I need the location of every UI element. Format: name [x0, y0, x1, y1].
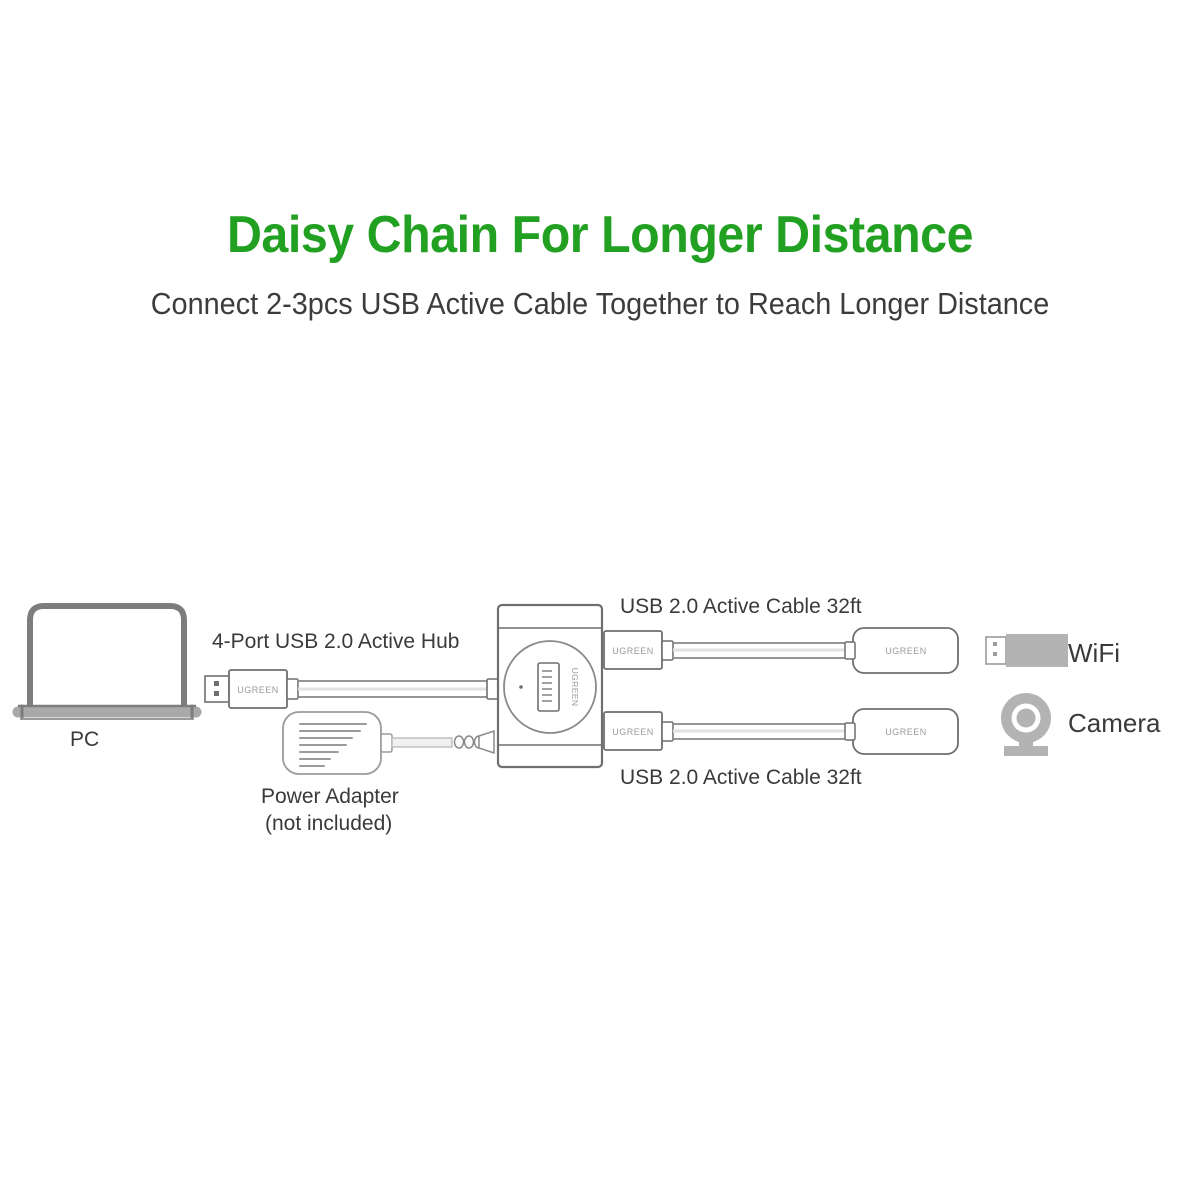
pc-laptop [18, 606, 196, 719]
power-adapter [283, 712, 494, 774]
brand-text: UGREEN [237, 685, 279, 695]
cable-pc-to-hub [298, 679, 500, 699]
label-camera: Camera [1068, 708, 1160, 739]
brand-text: UGREEN [885, 646, 927, 656]
active-cable-top: UGREEN UGREEN [604, 628, 958, 673]
label-pc: PC [70, 728, 99, 752]
brand-text: UGREEN [612, 646, 654, 656]
brand-text: UGREEN [612, 727, 654, 737]
label-power-adapter-note: (not included) [265, 812, 392, 836]
page-root: Daisy Chain For Longer Distance Connect … [0, 0, 1200, 1200]
label-power-adapter: Power Adapter [261, 785, 399, 809]
label-usb-hub: 4-Port USB 2.0 Active Hub [212, 630, 459, 654]
label-wifi: WiFi [1068, 638, 1120, 669]
usb-hub: UGREEN [498, 605, 602, 767]
wifi-dongle-icon [986, 634, 1068, 667]
label-active-cable-top: USB 2.0 Active Cable 32ft [620, 595, 862, 619]
active-cable-bottom: UGREEN UGREEN [604, 709, 958, 754]
connection-diagram: UGREEN [0, 0, 1200, 1200]
usb-a-plug-pc: UGREEN [205, 670, 298, 708]
label-active-cable-bottom: USB 2.0 Active Cable 32ft [620, 766, 862, 790]
camera-icon [1001, 693, 1051, 756]
brand-text: UGREEN [570, 668, 580, 707]
brand-text: UGREEN [885, 727, 927, 737]
